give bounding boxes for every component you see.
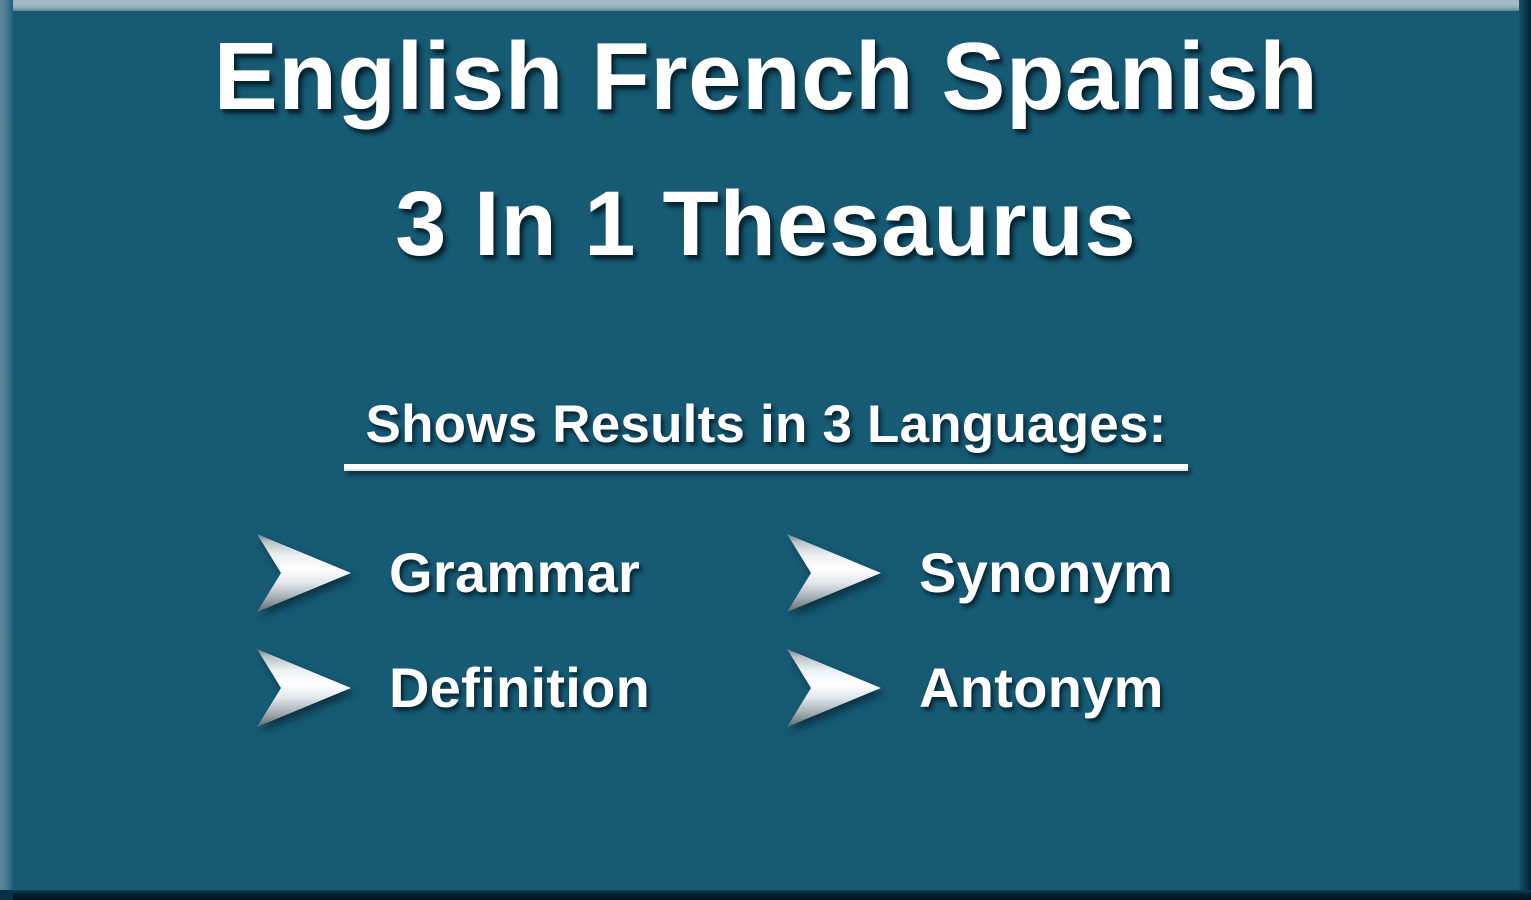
subtitle-underline	[344, 464, 1189, 471]
feature-item-grammar: Grammar	[251, 532, 771, 614]
banner-border-top	[0, 0, 1531, 11]
product-title-line-2: 3 In 1Thesaurus	[13, 175, 1519, 274]
banner-content: English French Spanish 3 In 1Thesaurus S…	[13, 11, 1519, 890]
arrow-bullet-icon	[251, 647, 355, 729]
subtitle-text: Shows Results in 3 Languages:	[366, 395, 1167, 454]
title-block: English French Spanish 3 In 1Thesaurus	[13, 25, 1519, 274]
feature-label-antonym: Antonym	[919, 655, 1164, 720]
arrow-bullet-icon	[251, 532, 355, 614]
feature-item-definition: Definition	[251, 647, 771, 729]
subtitle-wrap: Shows Results in 3 Languages:	[13, 394, 1519, 455]
product-title-line-1: English French Spanish	[13, 25, 1519, 129]
promo-banner: English French Spanish 3 In 1Thesaurus S…	[0, 0, 1531, 900]
feature-item-synonym: Synonym	[781, 532, 1301, 614]
product-title-line-2-name: Thesaurus	[662, 173, 1136, 275]
subtitle: Shows Results in 3 Languages:	[344, 394, 1189, 455]
arrow-bullet-icon	[781, 647, 885, 729]
feature-item-antonym: Antonym	[781, 647, 1301, 729]
product-title-line-2-edition: 3 In 1	[395, 173, 636, 275]
arrow-bullet-icon	[781, 532, 885, 614]
banner-border-bottom	[0, 890, 1531, 900]
feature-list: Grammar	[231, 515, 1301, 745]
banner-border-left	[0, 0, 13, 900]
banner-corner-bottom-left	[0, 890, 13, 900]
feature-label-grammar: Grammar	[389, 540, 640, 605]
feature-label-synonym: Synonym	[919, 540, 1173, 605]
banner-border-right	[1519, 0, 1531, 900]
feature-label-definition: Definition	[389, 655, 650, 720]
